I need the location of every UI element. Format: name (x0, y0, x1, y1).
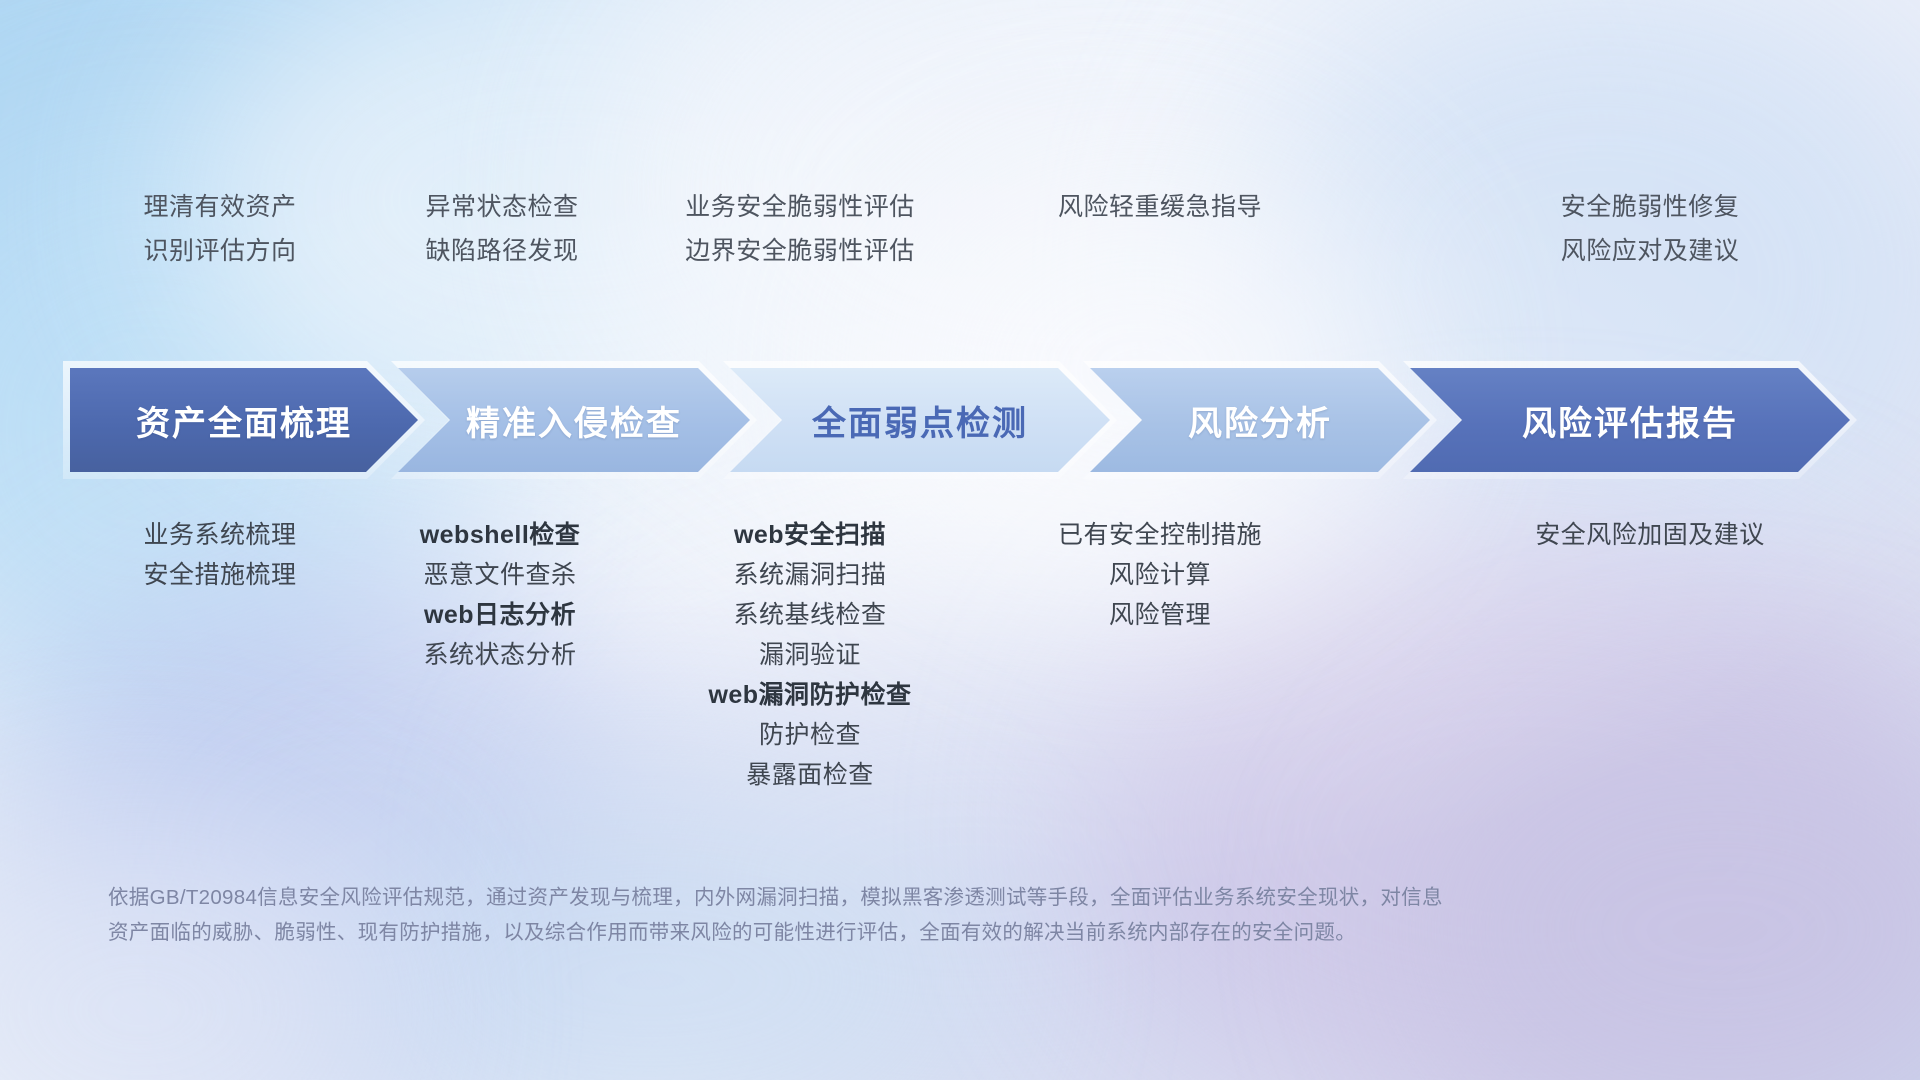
stage-5-top-notes: 安全脆弱性修复 风险应对及建议 (1500, 185, 1800, 273)
stage-label: 资产全面梳理 (136, 396, 352, 445)
note-line: 业务安全脆弱性评估 (630, 185, 970, 229)
process-arrow-band: 资产全面梳理 精准入侵检查 全面弱点检测 风险分析 风险评估报告 (70, 368, 1850, 472)
stage-arrow-weakness-detection[interactable]: 全面弱点检测 (730, 368, 1110, 472)
task-item: 系统漏洞扫描 (640, 555, 980, 595)
note-line: 边界安全脆弱性评估 (630, 229, 970, 273)
task-item: 防护检查 (640, 715, 980, 755)
task-item: 恶意文件查杀 (340, 555, 660, 595)
task-item: 安全风险加固及建议 (1460, 515, 1840, 555)
note-line: 安全脆弱性修复 (1500, 185, 1800, 229)
task-item: web漏洞防护检查 (640, 675, 980, 715)
stage-2-top-notes: 异常状态检查 缺陷路径发现 (352, 185, 652, 273)
task-item: web安全扫描 (640, 515, 980, 555)
note-line: 风险轻重缓急指导 (1000, 185, 1320, 229)
stage-1-tasks: 业务系统梳理 安全措施梳理 (70, 515, 370, 595)
stage-1-top-notes: 理清有效资产 识别评估方向 (70, 185, 370, 273)
task-item: 业务系统梳理 (70, 515, 370, 555)
stage-4-top-notes: 风险轻重缓急指导 (1000, 185, 1320, 229)
stage-label: 精准入侵检查 (466, 396, 682, 445)
footer-line: 依据GB/T20984信息安全风险评估规范，通过资产发现与梳理，内外网漏洞扫描，… (108, 880, 1768, 915)
task-item: web日志分析 (340, 595, 660, 635)
stage-3-top-notes: 业务安全脆弱性评估 边界安全脆弱性评估 (630, 185, 970, 273)
note-line: 识别评估方向 (70, 229, 370, 273)
task-item: webshell检查 (340, 515, 660, 555)
stage-2-tasks: webshell检查 恶意文件查杀 web日志分析 系统状态分析 (340, 515, 660, 675)
footer-description: 依据GB/T20984信息安全风险评估规范，通过资产发现与梳理，内外网漏洞扫描，… (108, 880, 1768, 950)
stage-arrow-risk-analysis[interactable]: 风险分析 (1090, 368, 1430, 472)
stage-3-tasks: web安全扫描 系统漏洞扫描 系统基线检查 漏洞验证 web漏洞防护检查 防护检… (640, 515, 980, 795)
stage-arrow-assessment-report[interactable]: 风险评估报告 (1410, 368, 1850, 472)
task-item: 安全措施梳理 (70, 555, 370, 595)
task-item: 风险管理 (1000, 595, 1320, 635)
task-item: 系统状态分析 (340, 635, 660, 675)
task-item: 暴露面检查 (640, 755, 980, 795)
stage-label: 风险分析 (1188, 396, 1332, 445)
stage-arrow-asset-inventory[interactable]: 资产全面梳理 (70, 368, 418, 472)
stage-4-tasks: 已有安全控制措施 风险计算 风险管理 (1000, 515, 1320, 635)
stage-arrow-intrusion-check[interactable]: 精准入侵检查 (398, 368, 750, 472)
note-line: 缺陷路径发现 (352, 229, 652, 273)
note-line: 理清有效资产 (70, 185, 370, 229)
stage-label: 全面弱点检测 (812, 396, 1028, 445)
task-item: 漏洞验证 (640, 635, 980, 675)
process-diagram: 理清有效资产 识别评估方向 异常状态检查 缺陷路径发现 业务安全脆弱性评估 边界… (0, 0, 1920, 1080)
stage-5-tasks: 安全风险加固及建议 (1460, 515, 1840, 555)
note-line: 风险应对及建议 (1500, 229, 1800, 273)
task-item: 风险计算 (1000, 555, 1320, 595)
note-line: 异常状态检查 (352, 185, 652, 229)
task-item: 已有安全控制措施 (1000, 515, 1320, 555)
stage-label: 风险评估报告 (1522, 396, 1738, 445)
task-item: 系统基线检查 (640, 595, 980, 635)
footer-line: 资产面临的威胁、脆弱性、现有防护措施，以及综合作用而带来风险的可能性进行评估，全… (108, 915, 1768, 950)
